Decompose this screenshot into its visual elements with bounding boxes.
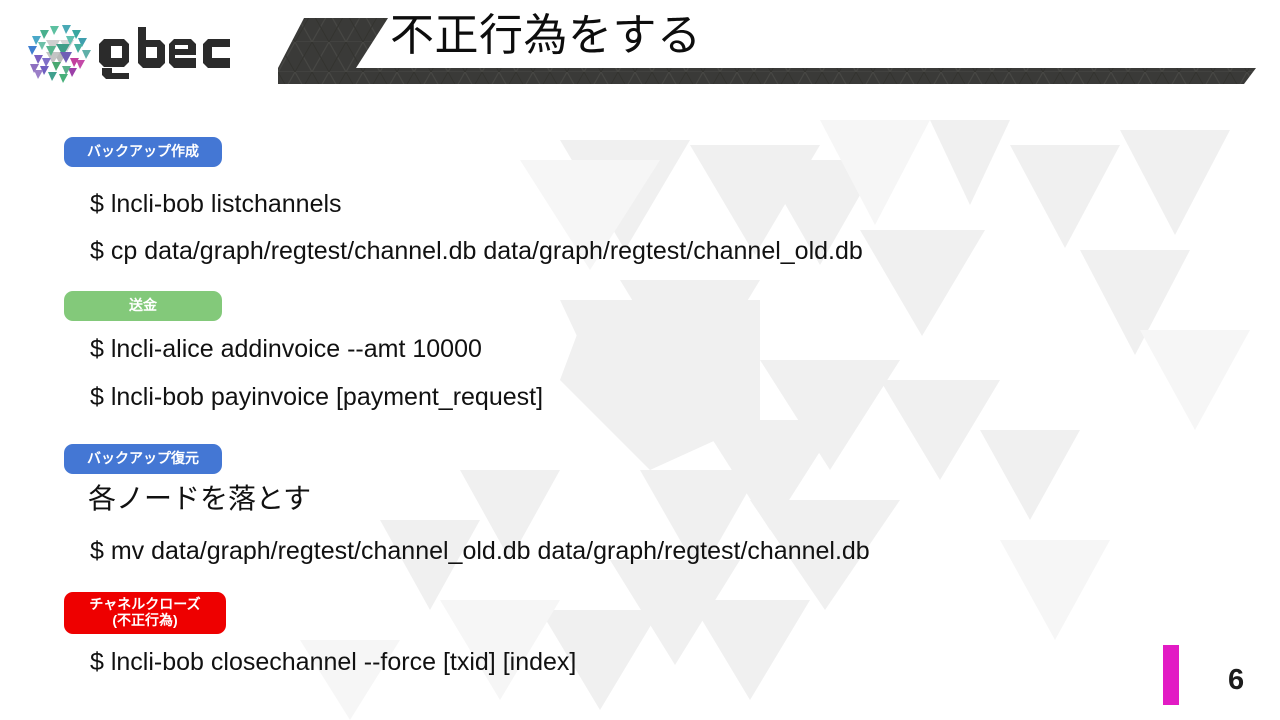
badge-backup-create: バックアップ作成 xyxy=(64,137,222,167)
command-line: $ lncli-bob payinvoice [payment_request] xyxy=(90,385,543,410)
page-title: 不正行為をする xyxy=(390,14,702,58)
badge-label: バックアップ復元 xyxy=(87,451,199,467)
accent-bar xyxy=(1163,645,1179,705)
badge-backup-restore: バックアップ復元 xyxy=(64,444,222,474)
slide-header: 不正行為をする xyxy=(0,0,1280,110)
instruction-line: 各ノードを落とす xyxy=(88,486,311,514)
command-line: $ lncli-alice addinvoice --amt 10000 xyxy=(90,337,482,362)
title-parallelogram xyxy=(278,18,388,68)
badge-label: 送金 xyxy=(129,298,157,314)
brand-wordmark xyxy=(98,27,238,79)
title-underbar xyxy=(278,68,1256,84)
brand-logo xyxy=(26,20,266,86)
command-line: $ cp data/graph/regtest/channel.db data/… xyxy=(90,239,863,264)
page-number: 6 xyxy=(1228,664,1244,697)
badge-channel-close: チャネルクローズ (不正行為) xyxy=(64,592,226,634)
badge-sublabel: (不正行為) xyxy=(112,613,177,629)
badge-label: チャネルクローズ xyxy=(89,597,200,613)
badge-payment: 送金 xyxy=(64,291,222,321)
command-line: $ mv data/graph/regtest/channel_old.db d… xyxy=(90,539,870,564)
command-line: $ lncli-bob closechannel --force [txid] … xyxy=(90,650,576,675)
slide-root: 不正行為をする バックアップ作成 $ lncli-bob listchannel… xyxy=(0,0,1280,720)
hexagon-particles-logo-icon xyxy=(26,22,92,84)
slide-content: バックアップ作成 $ lncli-bob listchannels $ cp d… xyxy=(0,110,1280,640)
command-line: $ lncli-bob listchannels xyxy=(90,192,342,217)
badge-label: バックアップ作成 xyxy=(87,144,199,160)
